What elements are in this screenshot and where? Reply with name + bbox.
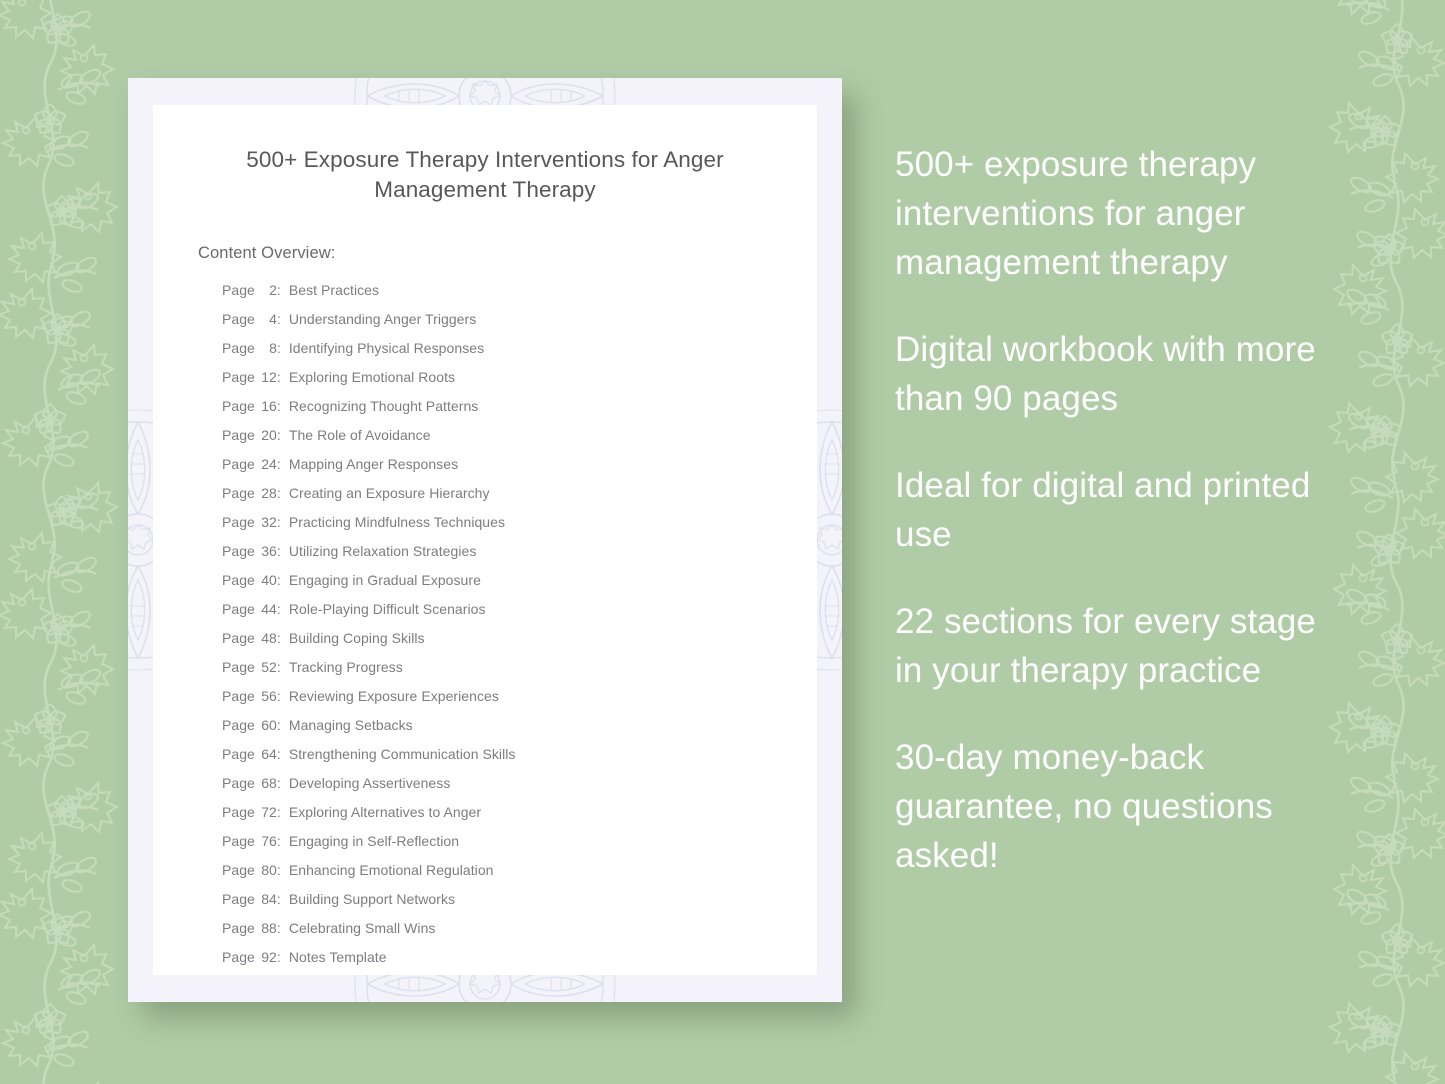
toc-row: Page88:Celebrating Small Wins <box>222 921 793 950</box>
toc-page-number: 2 <box>255 283 277 297</box>
toc-colon: : <box>277 341 281 355</box>
toc-row: Page64:Strengthening Communication Skill… <box>222 747 793 776</box>
toc-row: Page12:Exploring Emotional Roots <box>222 370 793 399</box>
toc-page-number: 8 <box>255 341 277 355</box>
toc-page-number: 12 <box>255 370 277 384</box>
toc-page-number: 24 <box>255 457 277 471</box>
toc-colon: : <box>277 370 281 384</box>
toc-colon: : <box>277 428 281 442</box>
promo-line: 500+ exposure therapy interventions for … <box>895 140 1343 287</box>
toc-section-title: Role-Playing Difficult Scenarios <box>289 602 486 616</box>
toc-colon: : <box>277 312 281 326</box>
toc-page-word: Page <box>222 312 255 326</box>
toc-page-word: Page <box>222 283 255 297</box>
toc-page-number: 92 <box>255 950 277 964</box>
toc-row: Page56:Reviewing Exposure Experiences <box>222 689 793 718</box>
table-of-contents: Page2:Best PracticesPage4:Understanding … <box>222 283 793 979</box>
toc-row: Page40:Engaging in Gradual Exposure <box>222 573 793 602</box>
toc-row: Page4:Understanding Anger Triggers <box>222 312 793 341</box>
toc-page-number: 52 <box>255 660 277 674</box>
toc-section-title: Engaging in Self-Reflection <box>289 834 459 848</box>
toc-row: Page2:Best Practices <box>222 283 793 312</box>
toc-page-word: Page <box>222 602 255 616</box>
toc-page-number: 80 <box>255 863 277 877</box>
toc-row: Page84:Building Support Networks <box>222 892 793 921</box>
toc-page-number: 88 <box>255 921 277 935</box>
promo-line: 22 sections for every stage in your ther… <box>895 597 1343 695</box>
toc-row: Page92:Notes Template <box>222 950 793 979</box>
toc-colon: : <box>277 573 281 587</box>
toc-section-title: Tracking Progress <box>289 660 403 674</box>
toc-page-number: 60 <box>255 718 277 732</box>
toc-section-title: The Role of Avoidance <box>289 428 431 442</box>
toc-row: Page72:Exploring Alternatives to Anger <box>222 805 793 834</box>
toc-page-word: Page <box>222 341 255 355</box>
toc-colon: : <box>277 892 281 906</box>
toc-section-title: Managing Setbacks <box>289 718 413 732</box>
workbook-preview-card: 500+ Exposure Therapy Interventions for … <box>128 78 842 1002</box>
toc-page-word: Page <box>222 892 255 906</box>
toc-page-number: 68 <box>255 776 277 790</box>
toc-row: Page52:Tracking Progress <box>222 660 793 689</box>
toc-section-title: Building Coping Skills <box>289 631 425 645</box>
toc-colon: : <box>277 776 281 790</box>
left-floral-border <box>0 0 142 1084</box>
toc-section-title: Practicing Mindfulness Techniques <box>289 515 505 529</box>
toc-page-number: 28 <box>255 486 277 500</box>
toc-page-word: Page <box>222 631 255 645</box>
toc-row: Page76:Engaging in Self-Reflection <box>222 834 793 863</box>
promo-line: Digital workbook with more than 90 pages <box>895 325 1343 423</box>
toc-section-title: Best Practices <box>289 283 379 297</box>
toc-colon: : <box>277 689 281 703</box>
toc-section-title: Creating an Exposure Hierarchy <box>289 486 490 500</box>
page-title: 500+ Exposure Therapy Interventions for … <box>213 145 757 204</box>
toc-page-word: Page <box>222 718 255 732</box>
toc-row: Page44:Role-Playing Difficult Scenarios <box>222 602 793 631</box>
workbook-page: 500+ Exposure Therapy Interventions for … <box>153 105 817 975</box>
toc-page-word: Page <box>222 776 255 790</box>
toc-row: Page68:Developing Assertiveness <box>222 776 793 805</box>
toc-page-word: Page <box>222 399 255 413</box>
toc-page-word: Page <box>222 428 255 442</box>
toc-colon: : <box>277 515 281 529</box>
floral-vine-icon <box>0 0 142 1084</box>
toc-page-number: 4 <box>255 312 277 326</box>
toc-page-word: Page <box>222 573 255 587</box>
toc-page-word: Page <box>222 805 255 819</box>
toc-row: Page60:Managing Setbacks <box>222 718 793 747</box>
toc-colon: : <box>277 747 281 761</box>
toc-colon: : <box>277 950 281 964</box>
toc-page-word: Page <box>222 660 255 674</box>
toc-section-title: Reviewing Exposure Experiences <box>289 689 499 703</box>
toc-colon: : <box>277 660 281 674</box>
toc-colon: : <box>277 921 281 935</box>
toc-section-title: Understanding Anger Triggers <box>289 312 476 326</box>
toc-page-word: Page <box>222 544 255 558</box>
toc-page-number: 20 <box>255 428 277 442</box>
toc-section-title: Notes Template <box>289 950 387 964</box>
toc-colon: : <box>277 602 281 616</box>
toc-section-title: Utilizing Relaxation Strategies <box>289 544 477 558</box>
promo-line: Ideal for digital and printed use <box>895 461 1343 559</box>
toc-section-title: Mapping Anger Responses <box>289 457 458 471</box>
toc-colon: : <box>277 399 281 413</box>
toc-page-word: Page <box>222 950 255 964</box>
toc-colon: : <box>277 863 281 877</box>
toc-colon: : <box>277 631 281 645</box>
toc-row: Page28:Creating an Exposure Hierarchy <box>222 486 793 515</box>
toc-section-title: Strengthening Communication Skills <box>289 747 516 761</box>
promo-text-column: 500+ exposure therapy interventions for … <box>895 140 1343 880</box>
toc-row: Page32:Practicing Mindfulness Techniques <box>222 515 793 544</box>
toc-colon: : <box>277 834 281 848</box>
toc-section-title: Celebrating Small Wins <box>289 921 436 935</box>
toc-section-title: Developing Assertiveness <box>289 776 451 790</box>
toc-page-number: 40 <box>255 573 277 587</box>
toc-page-number: 36 <box>255 544 277 558</box>
content-overview-label: Content Overview: <box>198 244 793 263</box>
toc-section-title: Engaging in Gradual Exposure <box>289 573 481 587</box>
toc-page-number: 44 <box>255 602 277 616</box>
toc-page-word: Page <box>222 747 255 761</box>
toc-colon: : <box>277 283 281 297</box>
toc-colon: : <box>277 805 281 819</box>
toc-page-word: Page <box>222 834 255 848</box>
toc-section-title: Enhancing Emotional Regulation <box>289 863 494 877</box>
toc-page-number: 48 <box>255 631 277 645</box>
toc-page-number: 72 <box>255 805 277 819</box>
toc-section-title: Exploring Alternatives to Anger <box>289 805 481 819</box>
toc-colon: : <box>277 718 281 732</box>
toc-colon: : <box>277 544 281 558</box>
toc-row: Page8:Identifying Physical Responses <box>222 341 793 370</box>
toc-section-title: Identifying Physical Responses <box>289 341 484 355</box>
toc-page-number: 56 <box>255 689 277 703</box>
toc-page-number: 76 <box>255 834 277 848</box>
toc-page-word: Page <box>222 921 255 935</box>
toc-page-number: 16 <box>255 399 277 413</box>
toc-row: Page80:Enhancing Emotional Regulation <box>222 863 793 892</box>
toc-section-title: Recognizing Thought Patterns <box>289 399 478 413</box>
toc-page-word: Page <box>222 863 255 877</box>
toc-page-word: Page <box>222 457 255 471</box>
promo-line: 30-day money-back guarantee, no question… <box>895 733 1343 880</box>
toc-page-word: Page <box>222 486 255 500</box>
toc-page-word: Page <box>222 370 255 384</box>
toc-page-number: 32 <box>255 515 277 529</box>
toc-section-title: Exploring Emotional Roots <box>289 370 455 384</box>
toc-row: Page36:Utilizing Relaxation Strategies <box>222 544 793 573</box>
toc-page-word: Page <box>222 689 255 703</box>
toc-row: Page24:Mapping Anger Responses <box>222 457 793 486</box>
toc-colon: : <box>277 486 281 500</box>
toc-page-number: 84 <box>255 892 277 906</box>
toc-colon: : <box>277 457 281 471</box>
toc-row: Page48:Building Coping Skills <box>222 631 793 660</box>
toc-row: Page20:The Role of Avoidance <box>222 428 793 457</box>
toc-page-word: Page <box>222 515 255 529</box>
toc-page-number: 64 <box>255 747 277 761</box>
toc-row: Page16:Recognizing Thought Patterns <box>222 399 793 428</box>
toc-section-title: Building Support Networks <box>289 892 455 906</box>
